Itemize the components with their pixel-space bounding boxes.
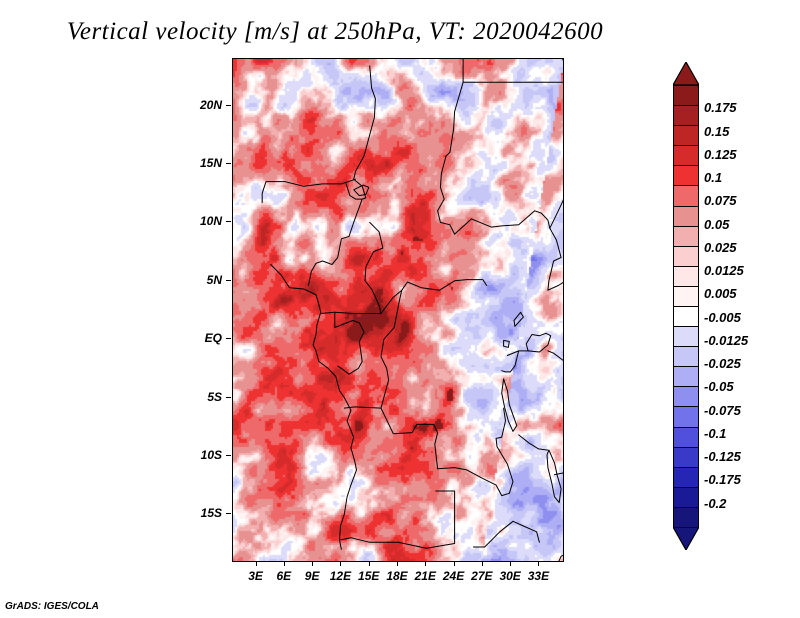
y-axis-tick	[226, 221, 231, 222]
border-polyline	[438, 408, 513, 496]
y-axis-label-15n: 15N	[162, 156, 222, 170]
border-polyline	[548, 351, 563, 393]
colorbar-swatch[interactable]	[673, 145, 699, 166]
border-polyline	[365, 222, 383, 313]
colorbar-swatch[interactable]	[673, 105, 699, 126]
colorbar-tick-label: 0.025	[704, 241, 737, 254]
border-polyline	[550, 169, 563, 229]
border-polyline	[262, 179, 355, 202]
y-axis-label-5n: 5N	[162, 273, 222, 287]
border-polyline	[548, 228, 561, 290]
border-polyline	[321, 312, 381, 313]
colorbar-tick-label: 0.125	[704, 148, 737, 161]
x-axis-tick	[510, 561, 511, 566]
colorbar-tick-label: -0.0125	[704, 334, 748, 347]
colorbar-swatch[interactable]	[673, 386, 699, 407]
border-polyline	[514, 312, 523, 326]
colorbar-tick-label: -0.125	[704, 450, 741, 463]
colorbar-tick-label: 0.1	[704, 171, 722, 184]
x-axis-tick	[340, 561, 341, 566]
map-plot-area[interactable]	[232, 58, 564, 562]
colorbar-swatch[interactable]	[673, 206, 699, 227]
footer-credit: GrADS: IGES/COLA	[5, 601, 99, 612]
border-polyline	[502, 351, 519, 372]
border-polyline	[547, 450, 561, 503]
colorbar-tick-label: -0.175	[704, 473, 741, 486]
border-polyline	[340, 538, 455, 549]
x-axis-label-33e: 33E	[513, 569, 563, 583]
y-axis-label-10n: 10N	[162, 214, 222, 228]
x-axis-tick	[397, 561, 398, 566]
colorbar-swatch[interactable]	[673, 507, 699, 528]
colorbar-swatch[interactable]	[673, 427, 699, 448]
colorbar-swatch[interactable]	[673, 226, 699, 247]
border-polyline	[502, 379, 517, 432]
border-polyline	[536, 59, 563, 205]
border-polyline	[519, 435, 548, 450]
x-axis-tick	[482, 561, 483, 566]
y-axis-tick	[226, 280, 231, 281]
border-polyline	[548, 281, 563, 290]
y-axis-label-15s: 15S	[162, 506, 222, 520]
country-borders-overlay	[233, 59, 563, 561]
border-polyline	[308, 199, 362, 285]
x-axis-tick	[454, 561, 455, 566]
colorbar-tick-label: 0.0125	[704, 264, 744, 277]
colorbar-tick-label: -0.05	[704, 380, 734, 393]
x-axis-tick	[256, 561, 257, 566]
colorbar-tick-label: 0.005	[704, 287, 737, 300]
y-axis-label-5s: 5S	[162, 390, 222, 404]
border-polyline	[344, 407, 437, 469]
colorbar-swatch[interactable]	[673, 85, 699, 106]
colorbar-tick-label: -0.025	[704, 357, 741, 370]
colorbar-swatch[interactable]	[673, 406, 699, 427]
border-polyline	[455, 211, 550, 234]
y-axis-label-20n: 20N	[162, 98, 222, 112]
x-axis-tick	[284, 561, 285, 566]
border-polyline	[346, 66, 375, 199]
border-polyline	[504, 340, 510, 347]
y-axis-tick	[226, 455, 231, 456]
border-polyline	[438, 82, 464, 234]
y-axis-tick	[226, 397, 231, 398]
grads-plot-page: Vertical velocity [m/s] at 250hPa, VT: 2…	[0, 0, 800, 618]
colorbar-tick-label: 0.15	[704, 125, 729, 138]
border-polyline	[473, 521, 513, 547]
colorbar-swatch[interactable]	[673, 346, 699, 367]
colorbar-tick-label: -0.2	[704, 497, 726, 510]
colorbar-tick-label: -0.1	[704, 427, 726, 440]
page-title: Vertical velocity [m/s] at 250hPa, VT: 2…	[0, 18, 670, 46]
border-polyline	[271, 265, 351, 411]
colorbar-swatch[interactable]	[673, 165, 699, 186]
border-polyline	[340, 410, 357, 549]
colorbar-swatch[interactable]	[673, 366, 699, 387]
x-axis-tick	[369, 561, 370, 566]
y-axis-tick	[226, 513, 231, 514]
colorbar-tick-label: -0.005	[704, 311, 741, 324]
x-axis-tick	[425, 561, 426, 566]
y-axis-label-10s: 10S	[162, 448, 222, 462]
colorbar-swatch[interactable]	[673, 246, 699, 267]
colorbar[interactable]	[673, 62, 699, 550]
y-axis-tick	[226, 105, 231, 106]
colorbar-swatch[interactable]	[673, 286, 699, 307]
border-polyline	[335, 312, 364, 374]
colorbar-swatch[interactable]	[673, 487, 699, 508]
colorbar-swatch[interactable]	[673, 125, 699, 146]
colorbar-tick-label: 0.075	[704, 194, 737, 207]
colorbar-bottom-arrow	[673, 527, 699, 550]
x-axis-tick	[312, 561, 313, 566]
colorbar-tick-label: -0.075	[704, 404, 741, 417]
border-polyline	[354, 185, 369, 196]
border-polyline	[381, 280, 487, 314]
map-clip	[233, 59, 563, 561]
colorbar-swatch[interactable]	[673, 185, 699, 206]
y-axis-label-eq: EQ	[162, 331, 222, 345]
colorbar-swatch[interactable]	[673, 306, 699, 327]
border-polyline	[526, 333, 551, 352]
border-polyline	[436, 491, 455, 544]
border-polyline	[381, 290, 402, 408]
y-axis-tick	[226, 338, 231, 339]
colorbar-top-arrow	[673, 62, 699, 85]
y-axis-tick	[226, 163, 231, 164]
colorbar-swatch[interactable]	[673, 447, 699, 468]
colorbar-tick-label: 0.175	[704, 101, 737, 114]
x-axis-tick	[538, 561, 539, 566]
colorbar-swatch[interactable]	[673, 326, 699, 347]
border-polyline	[513, 521, 539, 542]
colorbar-tick-label: 0.05	[704, 218, 729, 231]
colorbar-swatch[interactable]	[673, 266, 699, 287]
colorbar-swatch[interactable]	[673, 467, 699, 488]
